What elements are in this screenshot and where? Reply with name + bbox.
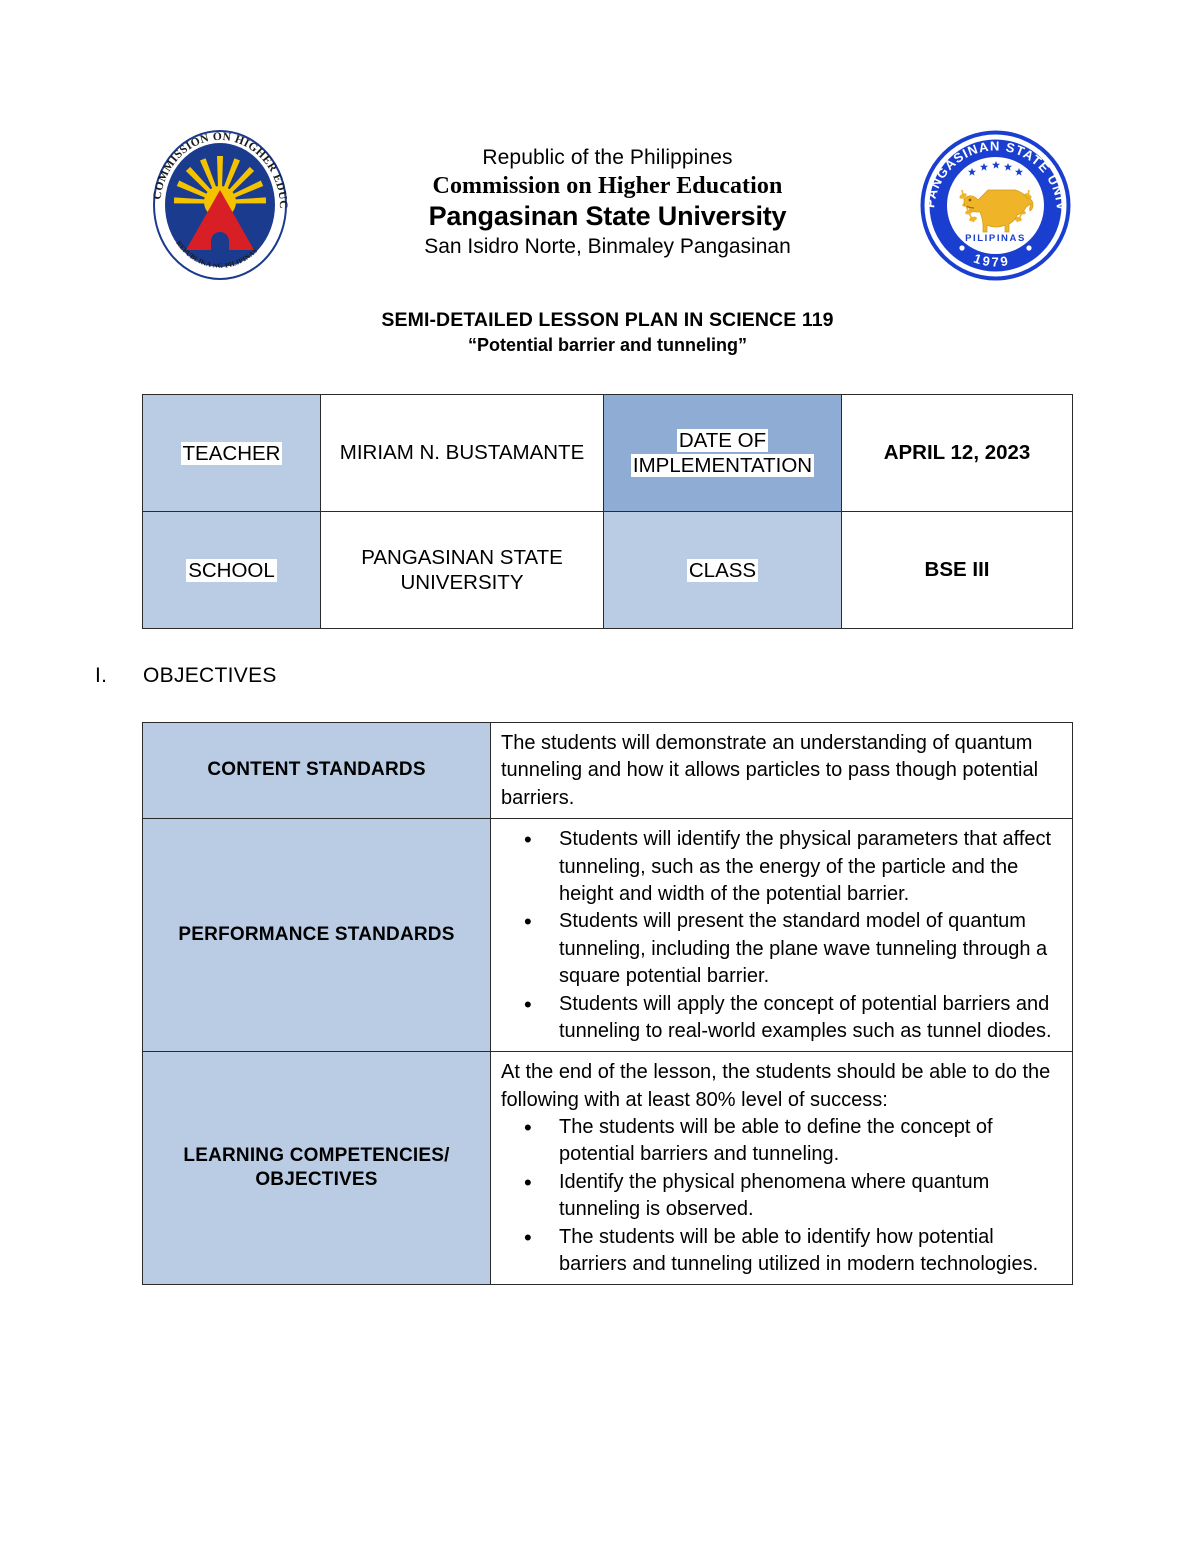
document-title: SEMI-DETAILED LESSON PLAN IN SCIENCE 119… <box>140 308 1075 357</box>
commission-line: Commission on Higher Education <box>300 172 915 200</box>
table-row: PERFORMANCE STANDARDS Students will iden… <box>143 819 1073 1052</box>
learning-competencies-body: At the end of the lesson, the students s… <box>491 1052 1073 1285</box>
psu-seal-logo: PANGASINAN STATE UNIVERSITY 1979 <box>915 128 1075 288</box>
table-row: TEACHER MIRIAM N. BUSTAMANTE DATE OF IMP… <box>143 395 1073 512</box>
date-value-cell: APRIL 12, 2023 <box>842 395 1073 512</box>
class-value-cell: BSE III <box>842 512 1073 629</box>
performance-standards-body: Students will identify the physical para… <box>491 819 1073 1052</box>
ched-seal-logo: COMMISSION ON HIGHER EDUCATION REPUBLIKA… <box>140 128 300 288</box>
teacher-label: TEACHER <box>181 442 283 465</box>
section-heading-objectives: I.OBJECTIVES <box>95 664 277 688</box>
table-row: CONTENT STANDARDS The students will demo… <box>143 723 1073 819</box>
lesson-plan-subtitle: “Potential barrier and tunneling” <box>140 334 1075 357</box>
date-label-cell: DATE OF IMPLEMENTATION <box>604 395 842 512</box>
document-page: COMMISSION ON HIGHER EDUCATION REPUBLIKA… <box>0 0 1200 1553</box>
lesson-plan-title: SEMI-DETAILED LESSON PLAN IN SCIENCE 119 <box>140 308 1075 332</box>
content-standards-body: The students will demonstrate an underst… <box>491 723 1073 819</box>
learning-competencies-intro: At the end of the lesson, the students s… <box>501 1059 1062 1114</box>
teacher-name: MIRIAM N. BUSTAMANTE <box>340 441 585 464</box>
table-row: SCHOOL PANGASINAN STATE UNIVERSITY CLASS… <box>143 512 1073 629</box>
list-item: Students will apply the concept of poten… <box>557 991 1062 1046</box>
teacher-value-cell: MIRIAM N. BUSTAMANTE <box>321 395 604 512</box>
svg-text:1994: 1994 <box>212 257 228 266</box>
school-label-cell: SCHOOL <box>143 512 321 629</box>
list-item: The students will be able to identify ho… <box>557 1224 1062 1279</box>
content-standards-text: The students will demonstrate an underst… <box>501 730 1062 812</box>
address-line: San Isidro Norte, Binmaley Pangasinan <box>300 235 915 260</box>
svg-text:PILIPINAS: PILIPINAS <box>965 233 1026 244</box>
letterhead-text: Republic of the Philippines Commission o… <box>300 128 915 260</box>
letterhead: COMMISSION ON HIGHER EDUCATION REPUBLIKA… <box>140 128 1075 293</box>
learning-competencies-label: LEARNING COMPETENCIES/ OBJECTIVES <box>143 1052 491 1285</box>
date-of-implementation-value: APRIL 12, 2023 <box>884 441 1031 464</box>
performance-standards-list: Students will identify the physical para… <box>501 826 1062 1045</box>
list-item: Students will identify the physical para… <box>557 826 1062 908</box>
class-value: BSE III <box>925 558 990 581</box>
content-standards-label: CONTENT STANDARDS <box>143 723 491 819</box>
list-item: The students will be able to define the … <box>557 1114 1062 1169</box>
school-value-cell: PANGASINAN STATE UNIVERSITY <box>321 512 604 629</box>
date-of-implementation-label: DATE OF IMPLEMENTATION <box>631 429 814 477</box>
ched-seal-icon: COMMISSION ON HIGHER EDUCATION REPUBLIKA… <box>150 128 290 283</box>
school-label: SCHOOL <box>186 559 277 582</box>
list-item: Identify the physical phenomena where qu… <box>557 1169 1062 1224</box>
teacher-label-cell: TEACHER <box>143 395 321 512</box>
table-row: LEARNING COMPETENCIES/ OBJECTIVES At the… <box>143 1052 1073 1285</box>
class-label-cell: CLASS <box>604 512 842 629</box>
psu-seal-icon: PANGASINAN STATE UNIVERSITY 1979 <box>918 128 1073 283</box>
lesson-info-table: TEACHER MIRIAM N. BUSTAMANTE DATE OF IMP… <box>142 394 1072 629</box>
list-item: Students will present the standard model… <box>557 908 1062 990</box>
class-label: CLASS <box>687 559 758 582</box>
objectives-table: CONTENT STANDARDS The students will demo… <box>142 722 1072 1285</box>
performance-standards-label: PERFORMANCE STANDARDS <box>143 819 491 1052</box>
section-title: OBJECTIVES <box>143 664 277 687</box>
section-numeral: I. <box>95 664 143 688</box>
university-line: Pangasinan State University <box>300 201 915 233</box>
school-name: PANGASINAN STATE UNIVERSITY <box>361 546 563 594</box>
republic-line: Republic of the Philippines <box>300 146 915 171</box>
learning-competencies-list: The students will be able to define the … <box>501 1114 1062 1278</box>
